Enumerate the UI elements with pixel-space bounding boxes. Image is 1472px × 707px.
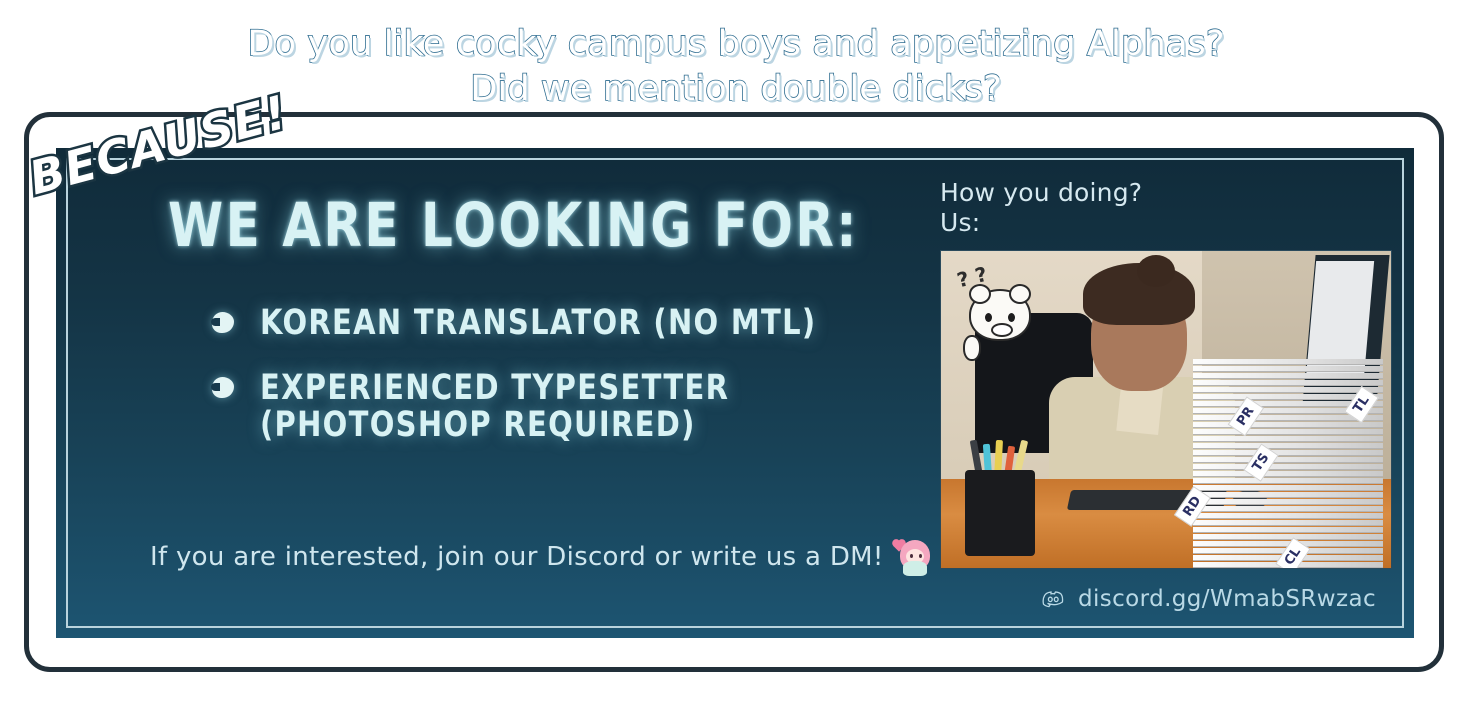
chibi-anime-girl-icon bbox=[894, 536, 936, 578]
poster-panel: WE ARE LOOKING FOR: KOREAN TRANSLATOR (N… bbox=[56, 148, 1414, 638]
recruitment-content: WE ARE LOOKING FOR: KOREAN TRANSLATOR (N… bbox=[112, 190, 932, 465]
discord-invite-link[interactable]: discord.gg/WmabSRwzac bbox=[1042, 586, 1376, 612]
call-to-action: If you are interested, join our Discord … bbox=[150, 536, 936, 578]
discord-logo-icon bbox=[1042, 589, 1068, 609]
headline-line-1: Do you like cocky campus boys and appeti… bbox=[0, 0, 1472, 67]
role-label-translator: KOREAN TRANSLATOR (NO MTL) bbox=[260, 304, 816, 341]
overworked-office-woman-photo: ? ? PR TL bbox=[940, 250, 1392, 569]
chevron-bullet-icon bbox=[212, 377, 234, 398]
photo-column: How you doing? Us: ? ? bbox=[940, 178, 1410, 569]
page-title: WE ARE LOOKING FOR: bbox=[168, 190, 932, 261]
paper-stack: PR TL TS RD CL bbox=[1193, 348, 1383, 568]
photo-caption-line-2: Us: bbox=[940, 208, 1410, 238]
headline-line-2-text: Did we mention double dicks? bbox=[454, 69, 1018, 109]
chevron-bullet-icon bbox=[212, 312, 234, 333]
list-item: KOREAN TRANSLATOR (NO MTL) bbox=[112, 304, 932, 335]
cta-text: If you are interested, join our Discord … bbox=[150, 542, 884, 572]
photo-caption-line-1: How you doing? bbox=[940, 178, 1410, 208]
list-item: EXPERIENCED TYPESETTER (PHOTOSHOP REQUIR… bbox=[112, 369, 932, 431]
confused-bear-icon bbox=[969, 289, 1031, 341]
role-label-typesetter: EXPERIENCED TYPESETTER (PHOTOSHOP REQUIR… bbox=[260, 369, 729, 443]
discord-invite-text: discord.gg/WmabSRwzac bbox=[1078, 586, 1376, 612]
bear-paw-icon bbox=[963, 335, 981, 361]
roles-list: KOREAN TRANSLATOR (NO MTL) EXPERIENCED T… bbox=[112, 304, 932, 431]
